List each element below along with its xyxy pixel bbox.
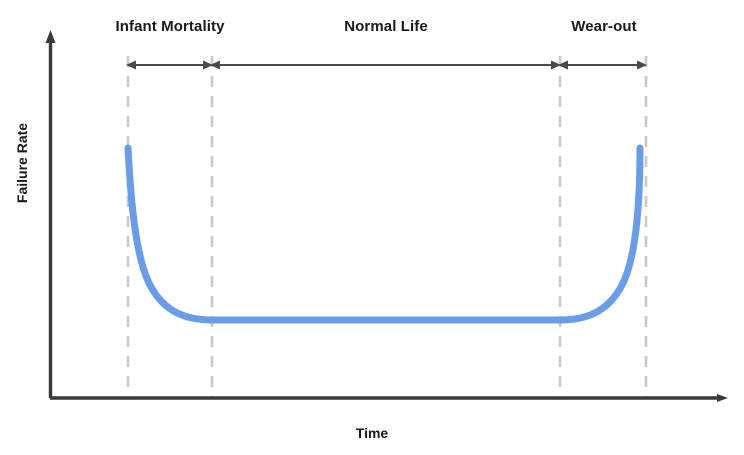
bathtub-curve-figure: Infant Mortality Normal Life Wear-out Fa… — [0, 0, 744, 455]
region-label-wear-out: Wear-out — [571, 18, 637, 35]
chart-canvas — [0, 0, 744, 455]
y-axis-label: Failure Rate — [14, 88, 30, 238]
region-dividers — [128, 56, 646, 397]
region-label-infant-mortality: Infant Mortality — [115, 18, 224, 35]
failure-rate-curve-path — [128, 148, 640, 320]
x-axis-label: Time — [0, 425, 744, 441]
region-label-normal-life: Normal Life — [344, 18, 428, 35]
failure-rate-curve — [128, 148, 640, 320]
chart-axes — [50, 42, 718, 398]
